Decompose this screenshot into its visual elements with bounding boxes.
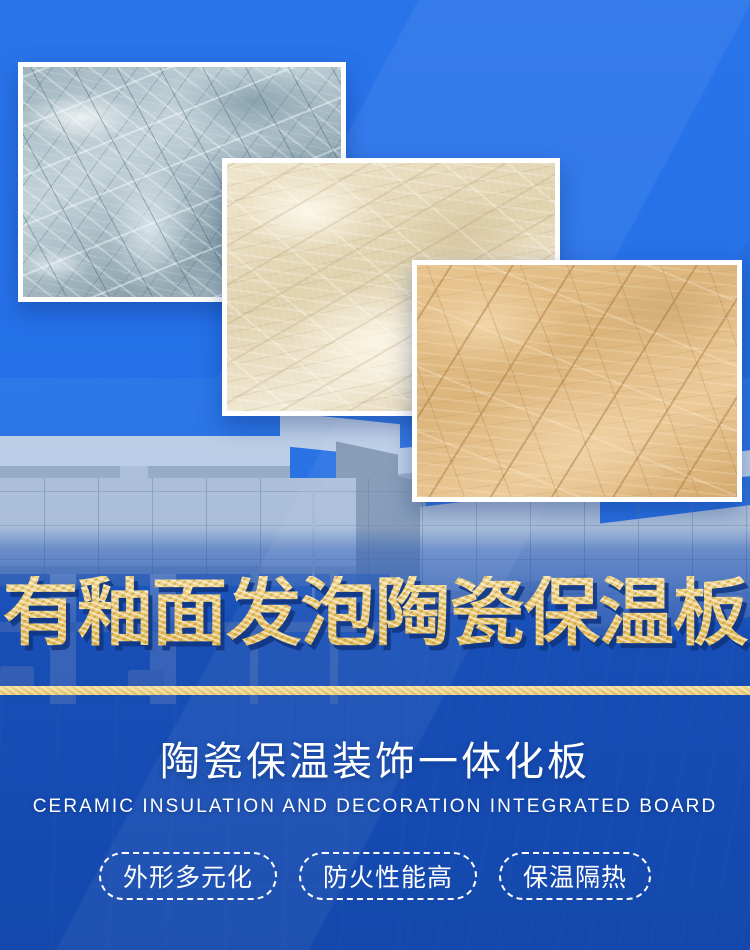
subtitle-english: CERAMIC INSULATION AND DECORATION INTEGR… (0, 797, 750, 816)
product-banner-poster: 有釉面发泡陶瓷保温板 陶瓷保温装饰一体化板 CERAMIC INSULATION… (0, 0, 750, 950)
feature-pill-fire-resistance[interactable]: 防火性能高 (299, 852, 477, 900)
subtitle-chinese: 陶瓷保温装饰一体化板 (0, 742, 750, 782)
feature-pill-thermal-insulation[interactable]: 保温隔热 (499, 852, 651, 900)
headline-title: 有釉面发泡陶瓷保温板 (0, 576, 750, 650)
tan-gold-marble-tile[interactable] (412, 260, 742, 502)
feature-pill-group: 外形多元化 防火性能高 保温隔热 (0, 852, 750, 900)
tile-veining (417, 265, 737, 497)
feature-pill-shape-variety[interactable]: 外形多元化 (99, 852, 277, 900)
gold-divider (0, 686, 750, 695)
